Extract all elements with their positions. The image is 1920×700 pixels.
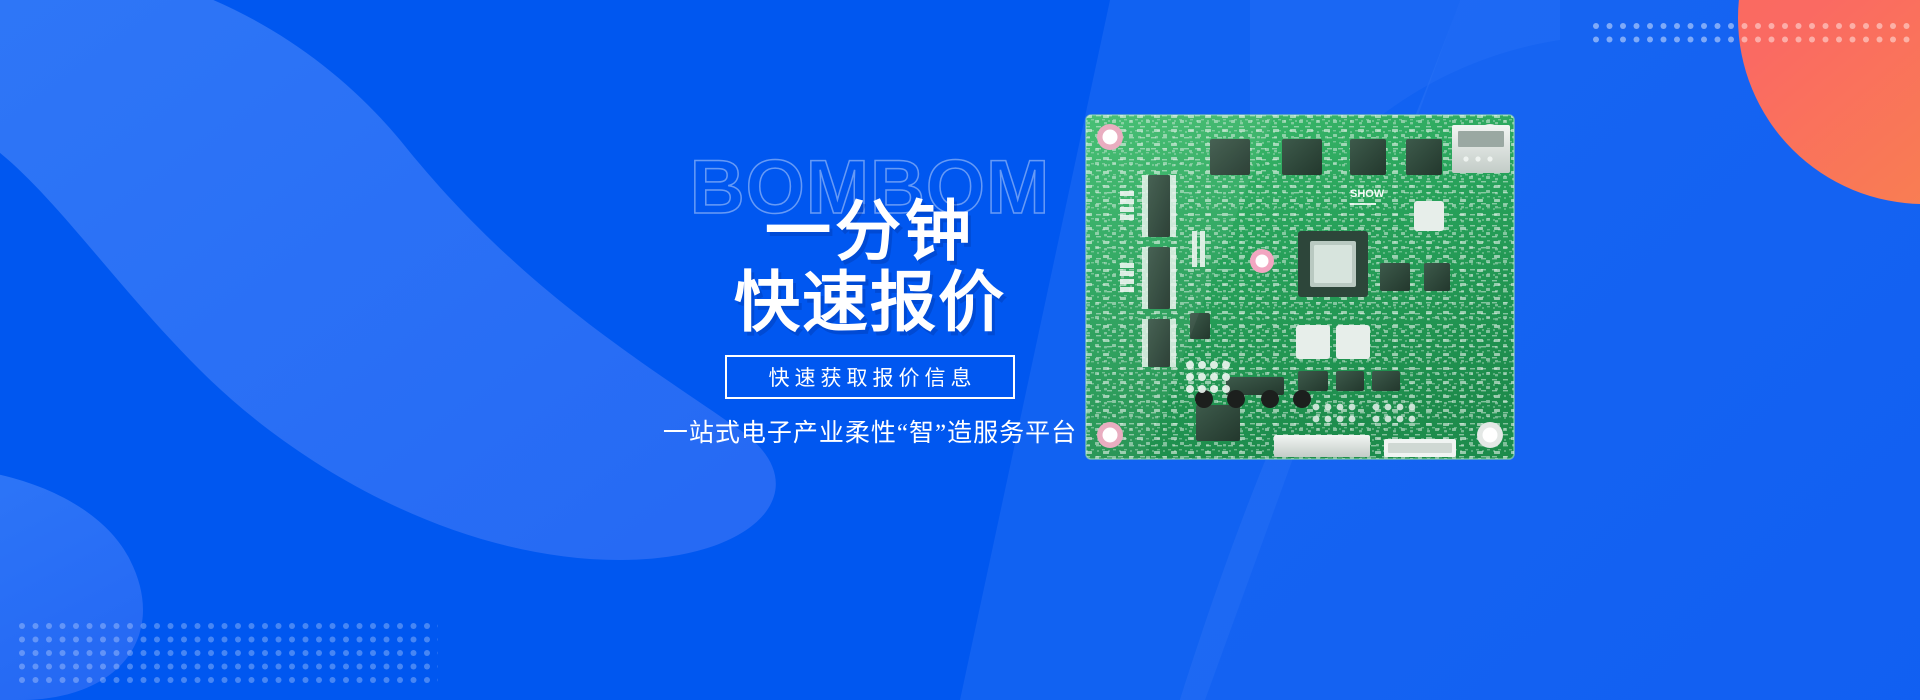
banner-text-block: BOMBOM 一分钟 快速报价 快速获取报价信息 一站式电子产业柔性“智”造服务…: [660, 150, 1080, 449]
promo-banner: SHOW BOMBOM 一分钟 快速报价 快速获取报价信息 一站式电子产业柔性“…: [0, 0, 1920, 700]
get-quote-cta[interactable]: 快速获取报价信息: [725, 355, 1015, 399]
pcb-board-image: SHOW: [1084, 113, 1516, 461]
page-title: 一分钟 快速报价: [660, 150, 1080, 339]
headline-line-1: 一分钟: [660, 196, 1080, 267]
headline-line-2: 快速报价: [660, 267, 1080, 338]
sub-tagline: 一站式电子产业柔性“智”造服务平台: [660, 413, 1080, 449]
svg-text:SHOW: SHOW: [1350, 188, 1385, 200]
get-quote-cta-label: 快速获取报价信息: [764, 362, 977, 392]
